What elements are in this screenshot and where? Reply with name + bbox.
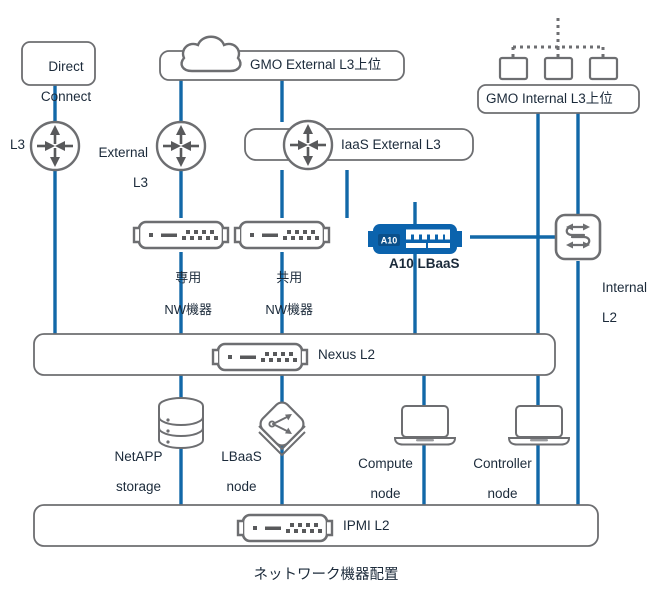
shared-nw-label-line2: NW機器 [265,302,313,317]
compute-label-line1: Compute [358,456,413,471]
shared-nw-label-line1: 共用 [276,270,302,285]
direct-connect-label-line1: Direct [48,59,83,74]
internal-l2-label-line1: Internal [602,280,647,295]
compute-node-laptop-icon[interactable] [395,406,455,445]
external-l3-label-line1: External [98,145,148,160]
gmo-internal-l3-label: GMO Internal L3上位 [486,91,613,106]
external-l3-label-line2: L3 [133,175,148,190]
controller-label-line1: Controller [473,456,532,471]
controller-node-laptop-icon[interactable] [509,406,569,445]
dedicated-nw-label-line2: NW機器 [164,302,212,317]
compute-label-line2: node [370,486,400,501]
gmo-external-l3-label: GMO External L3上位 [250,57,381,72]
shared-nw-switch-icon[interactable] [235,222,329,248]
ipmi-l2-switch-icon[interactable] [238,515,332,541]
l3-label: L3 [0,137,25,152]
a10-lbaas-label: A10 LBaaS [389,256,460,271]
direct-connect-label: Direct Connect [22,44,95,119]
internal-server-group [500,58,617,79]
internal-server-2[interactable] [545,58,572,79]
netapp-label-line2: storage [116,479,161,494]
netapp-label-line1: NetAPP [114,449,162,464]
internal-l2-label-line2: L2 [602,310,617,325]
lbaas-node-label-line2: node [226,479,256,494]
compute-node-label: Compute node [339,441,417,516]
external-l3-router-icon[interactable] [157,122,205,170]
lbaas-node-label: LBaaS node [204,434,264,509]
direct-connect-label-line2: Connect [41,89,91,104]
cloud-icon [182,37,241,71]
internal-l2-label: Internal L2 [587,265,647,340]
internal-server-3[interactable] [590,58,617,79]
dedicated-nw-switch-icon[interactable] [134,222,228,248]
diagram-caption: ネットワーク機器配置 [0,563,652,584]
iaas-external-l3-router-icon[interactable] [284,121,332,169]
network-diagram: A10 [0,0,652,599]
lbaas-node-label-line1: LBaaS [221,449,262,464]
dedicated-nw-label-line1: 専用 [175,270,201,285]
internal-l2-switch-icon[interactable] [556,215,600,259]
a10-lbaas-switch-icon[interactable] [368,224,462,254]
controller-label-line2: node [487,486,517,501]
l3-router-icon[interactable] [31,122,79,170]
internal-server-1[interactable] [500,58,527,79]
ipmi-l2-label: IPMI L2 [343,518,390,533]
shared-nw-label: 共用 NW機器 [227,254,337,334]
nexus-l2-switch-icon[interactable] [213,344,307,370]
netapp-storage-label: NetAPP storage [96,434,166,509]
dedicated-nw-label: 専用 NW機器 [126,254,236,334]
nexus-l2-label: Nexus L2 [318,347,375,362]
external-l3-label: External L3 [80,130,148,205]
iaas-external-l3-label: IaaS External L3 [341,137,441,152]
controller-node-label: Controller node [455,441,535,516]
